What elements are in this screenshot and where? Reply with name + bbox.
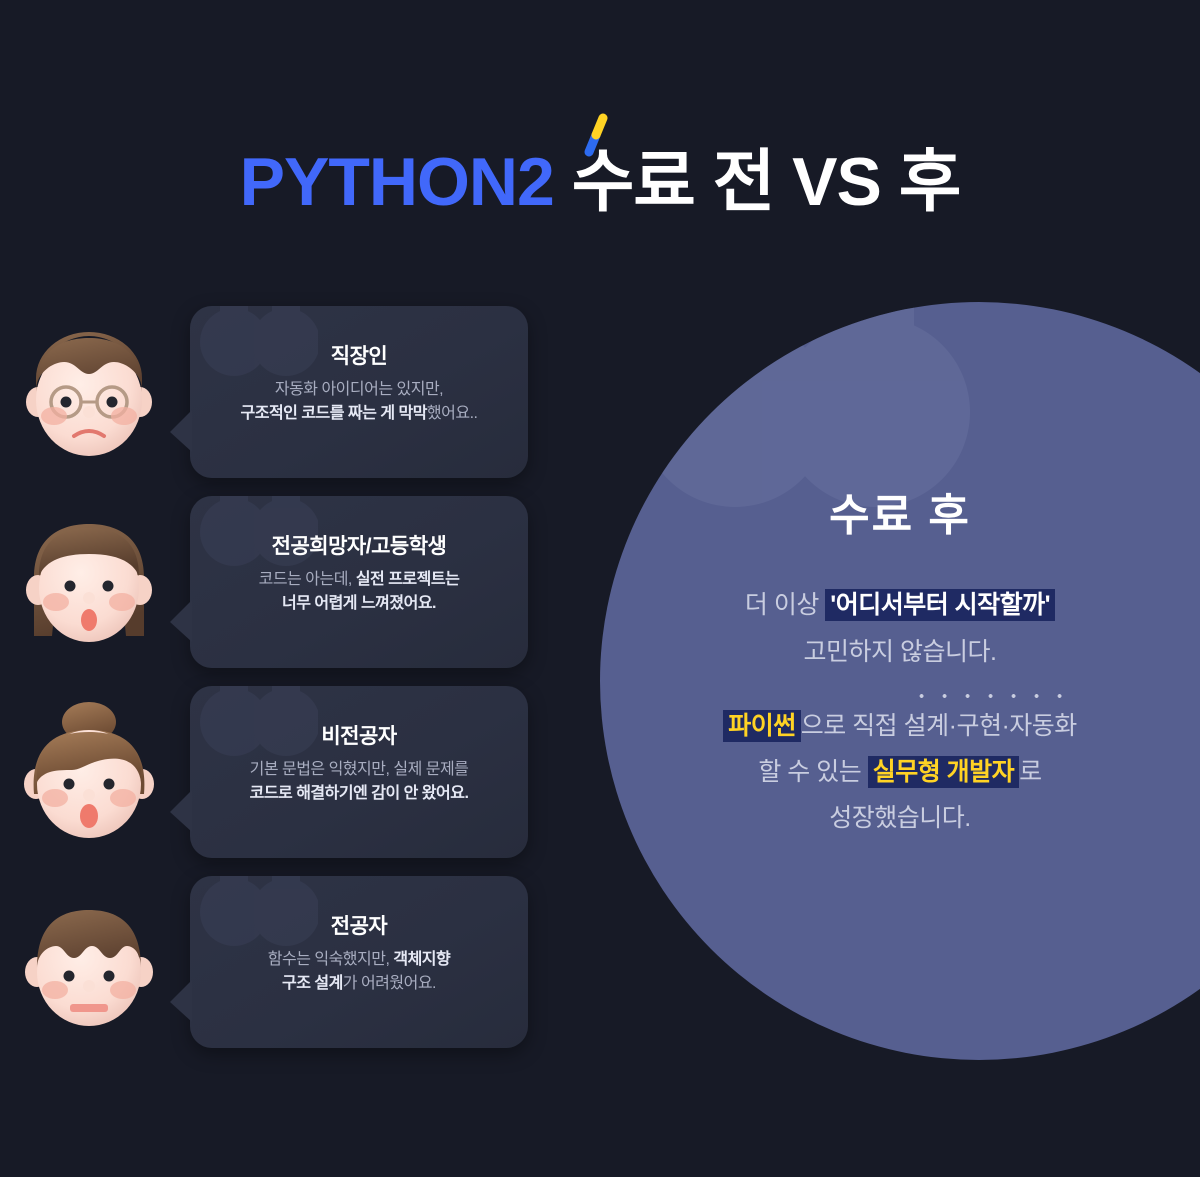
bubble-tail (170, 980, 192, 1022)
avatar-bun-hair-surprised (14, 698, 164, 848)
after-line-3: 파이썬으로 직접 설계·구현·자동화 (600, 703, 1200, 749)
testimonial-line-2: 너무 어렵게 느껴졌어요. (282, 592, 436, 616)
testimonial-row: 직장인 자동화 아이디어는 있지만, 구조적인 코드를 짜는 게 막막했어요.. (0, 300, 560, 490)
speech-bubble: 직장인 자동화 아이디어는 있지만, 구조적인 코드를 짜는 게 막막했어요.. (190, 306, 528, 478)
avatar-long-hair-surprised (14, 508, 164, 658)
after-line-1: 더 이상 '어디서부터 시작할까' (600, 582, 1200, 628)
infographic-canvas: PYTHON2 수료 전 VS 후 (0, 0, 1200, 1177)
testimonial-line-1: 자동화 아이디어는 있지만, (275, 378, 443, 402)
speech-bubble: 비전공자 기본 문법은 익혔지만, 실제 문제를 코드로 해결하기엔 감이 안 … (190, 686, 528, 858)
testimonial-line-2: 구조 설계가 어려웠어요. (282, 972, 436, 996)
after-line-5: 성장했습니다. (600, 795, 1200, 841)
bubble-tail (170, 410, 192, 452)
spacer (600, 675, 1200, 703)
dotted-emphasis-text: 설계·구현·자동화 (904, 703, 1077, 749)
highlight-where-to-start: '어디서부터 시작할까' (825, 589, 1055, 621)
title-rest: 수료 전 VS 후 (554, 144, 961, 220)
avatar-short-hair-neutral (14, 888, 164, 1038)
testimonial-line-2: 구조적인 코드를 짜는 게 막막했어요.. (241, 402, 478, 426)
speech-bubble: 전공희망자/고등학생 코드는 아는데, 실전 프로젝트는 너무 어렵게 느껴졌어… (190, 496, 528, 668)
testimonial-role: 비전공자 (321, 724, 396, 749)
testimonial-row: 전공희망자/고등학생 코드는 아는데, 실전 프로젝트는 너무 어렵게 느껴졌어… (0, 490, 560, 680)
after-line-4: 할 수 있는 실무형 개발자로 (600, 749, 1200, 795)
page-title: PYTHON2 수료 전 VS 후 (0, 148, 1200, 216)
after-title: 수료 후 (600, 492, 1200, 540)
bubble-tail (170, 600, 192, 642)
after-panel: 수료 후 더 이상 '어디서부터 시작할까' 고민하지 않습니다. 파이썬으로 … (600, 302, 1200, 1060)
testimonial-line-1: 기본 문법은 익혔지만, 실제 문제를 (250, 758, 469, 782)
after-line-2: 고민하지 않습니다. (600, 629, 1200, 675)
testimonial-line-2: 코드로 해결하기엔 감이 안 왔어요. (250, 782, 469, 806)
highlight-python: 파이썬 (723, 710, 801, 742)
testimonial-line-1: 코드는 아는데, 실전 프로젝트는 (259, 568, 460, 592)
title-brand: PYTHON2 (240, 144, 554, 220)
highlight-practical-developer: 실무형 개발자 (868, 756, 1019, 788)
avatar-office-worker-glasses-frown (14, 318, 164, 468)
testimonial-role: 전공자 (331, 914, 387, 939)
testimonial-row: 비전공자 기본 문법은 익혔지만, 실제 문제를 코드로 해결하기엔 감이 안 … (0, 680, 560, 870)
testimonial-row: 전공자 함수는 익숙했지만, 객체지향 구조 설계가 어려웠어요. (0, 870, 560, 1060)
testimonial-line-1: 함수는 익숙했지만, 객체지향 (268, 948, 451, 972)
testimonial-role: 직장인 (331, 344, 387, 369)
speech-bubble: 전공자 함수는 익숙했지만, 객체지향 구조 설계가 어려웠어요. (190, 876, 528, 1048)
bubble-tail (170, 790, 192, 832)
testimonial-role: 전공희망자/고등학생 (272, 534, 447, 559)
